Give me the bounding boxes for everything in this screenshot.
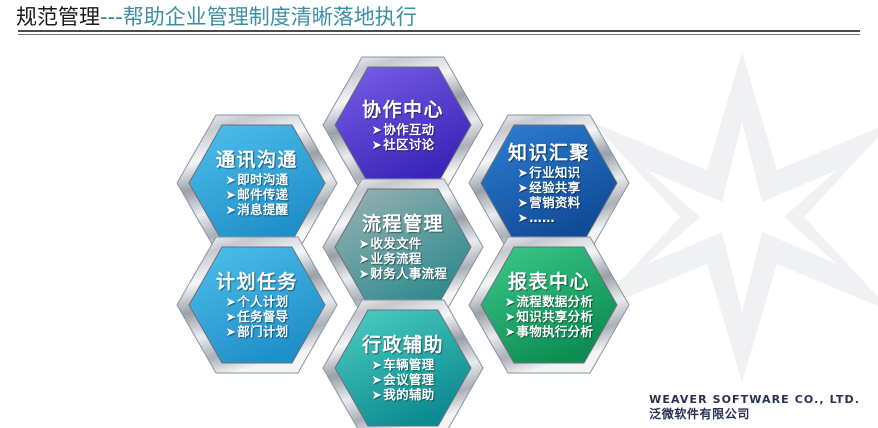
hexagon-plan-tasks[interactable]: 计划任务 ➤个人计划 ➤任务督导 ➤部门计划 bbox=[175, 235, 339, 375]
page-title-main: 规范管理 bbox=[16, 5, 100, 29]
slide-canvas: 规范管理---帮助企业管理制度清晰落地执行 bbox=[0, 0, 878, 428]
page-title: 规范管理---帮助企业管理制度清晰落地执行 bbox=[16, 1, 417, 31]
hexagon-diagram: 协作中心 ➤协作互动 ➤社区讨论 通讯沟通 ➤即时沟通 ➤邮件传递 ➤消息提醒 bbox=[0, 44, 878, 428]
header-divider-line-bottom bbox=[18, 34, 860, 35]
hexagon-process-management[interactable]: 流程管理 ➤收发文件 ➤业务流程 ➤财务人事流程 bbox=[321, 177, 485, 317]
page-title-subtitle: 帮助企业管理制度清晰落地执行 bbox=[123, 5, 417, 29]
header-divider-line-top bbox=[18, 30, 860, 32]
hexagon-report-center[interactable]: 报表中心 ➤流程数据分析 ➤知识共享分析 ➤事物执行分析 bbox=[467, 235, 631, 375]
slide-header: 规范管理---帮助企业管理制度清晰落地执行 bbox=[0, 0, 878, 44]
hexagon-collaboration-center[interactable]: 协作中心 ➤协作互动 ➤社区讨论 bbox=[321, 55, 485, 195]
hexagon-communication[interactable]: 通讯沟通 ➤即时沟通 ➤邮件传递 ➤消息提醒 bbox=[175, 113, 339, 253]
company-name-cn: 泛微软件有限公司 bbox=[649, 407, 860, 422]
header-divider bbox=[18, 30, 860, 37]
company-credit: WEAVER SOFTWARE CO., LTD. 泛微软件有限公司 bbox=[649, 392, 860, 422]
hexagon-knowledge-hub[interactable]: 知识汇聚 ➤行业知识 ➤经验共享 ➤营销资料 ➤…… bbox=[467, 113, 631, 253]
hexagon-administrative-support[interactable]: 行政辅助 ➤车辆管理 ➤会议管理 ➤我的辅助 bbox=[321, 298, 485, 428]
company-name-en: WEAVER SOFTWARE CO., LTD. bbox=[649, 392, 860, 407]
page-title-separator: --- bbox=[100, 5, 123, 29]
